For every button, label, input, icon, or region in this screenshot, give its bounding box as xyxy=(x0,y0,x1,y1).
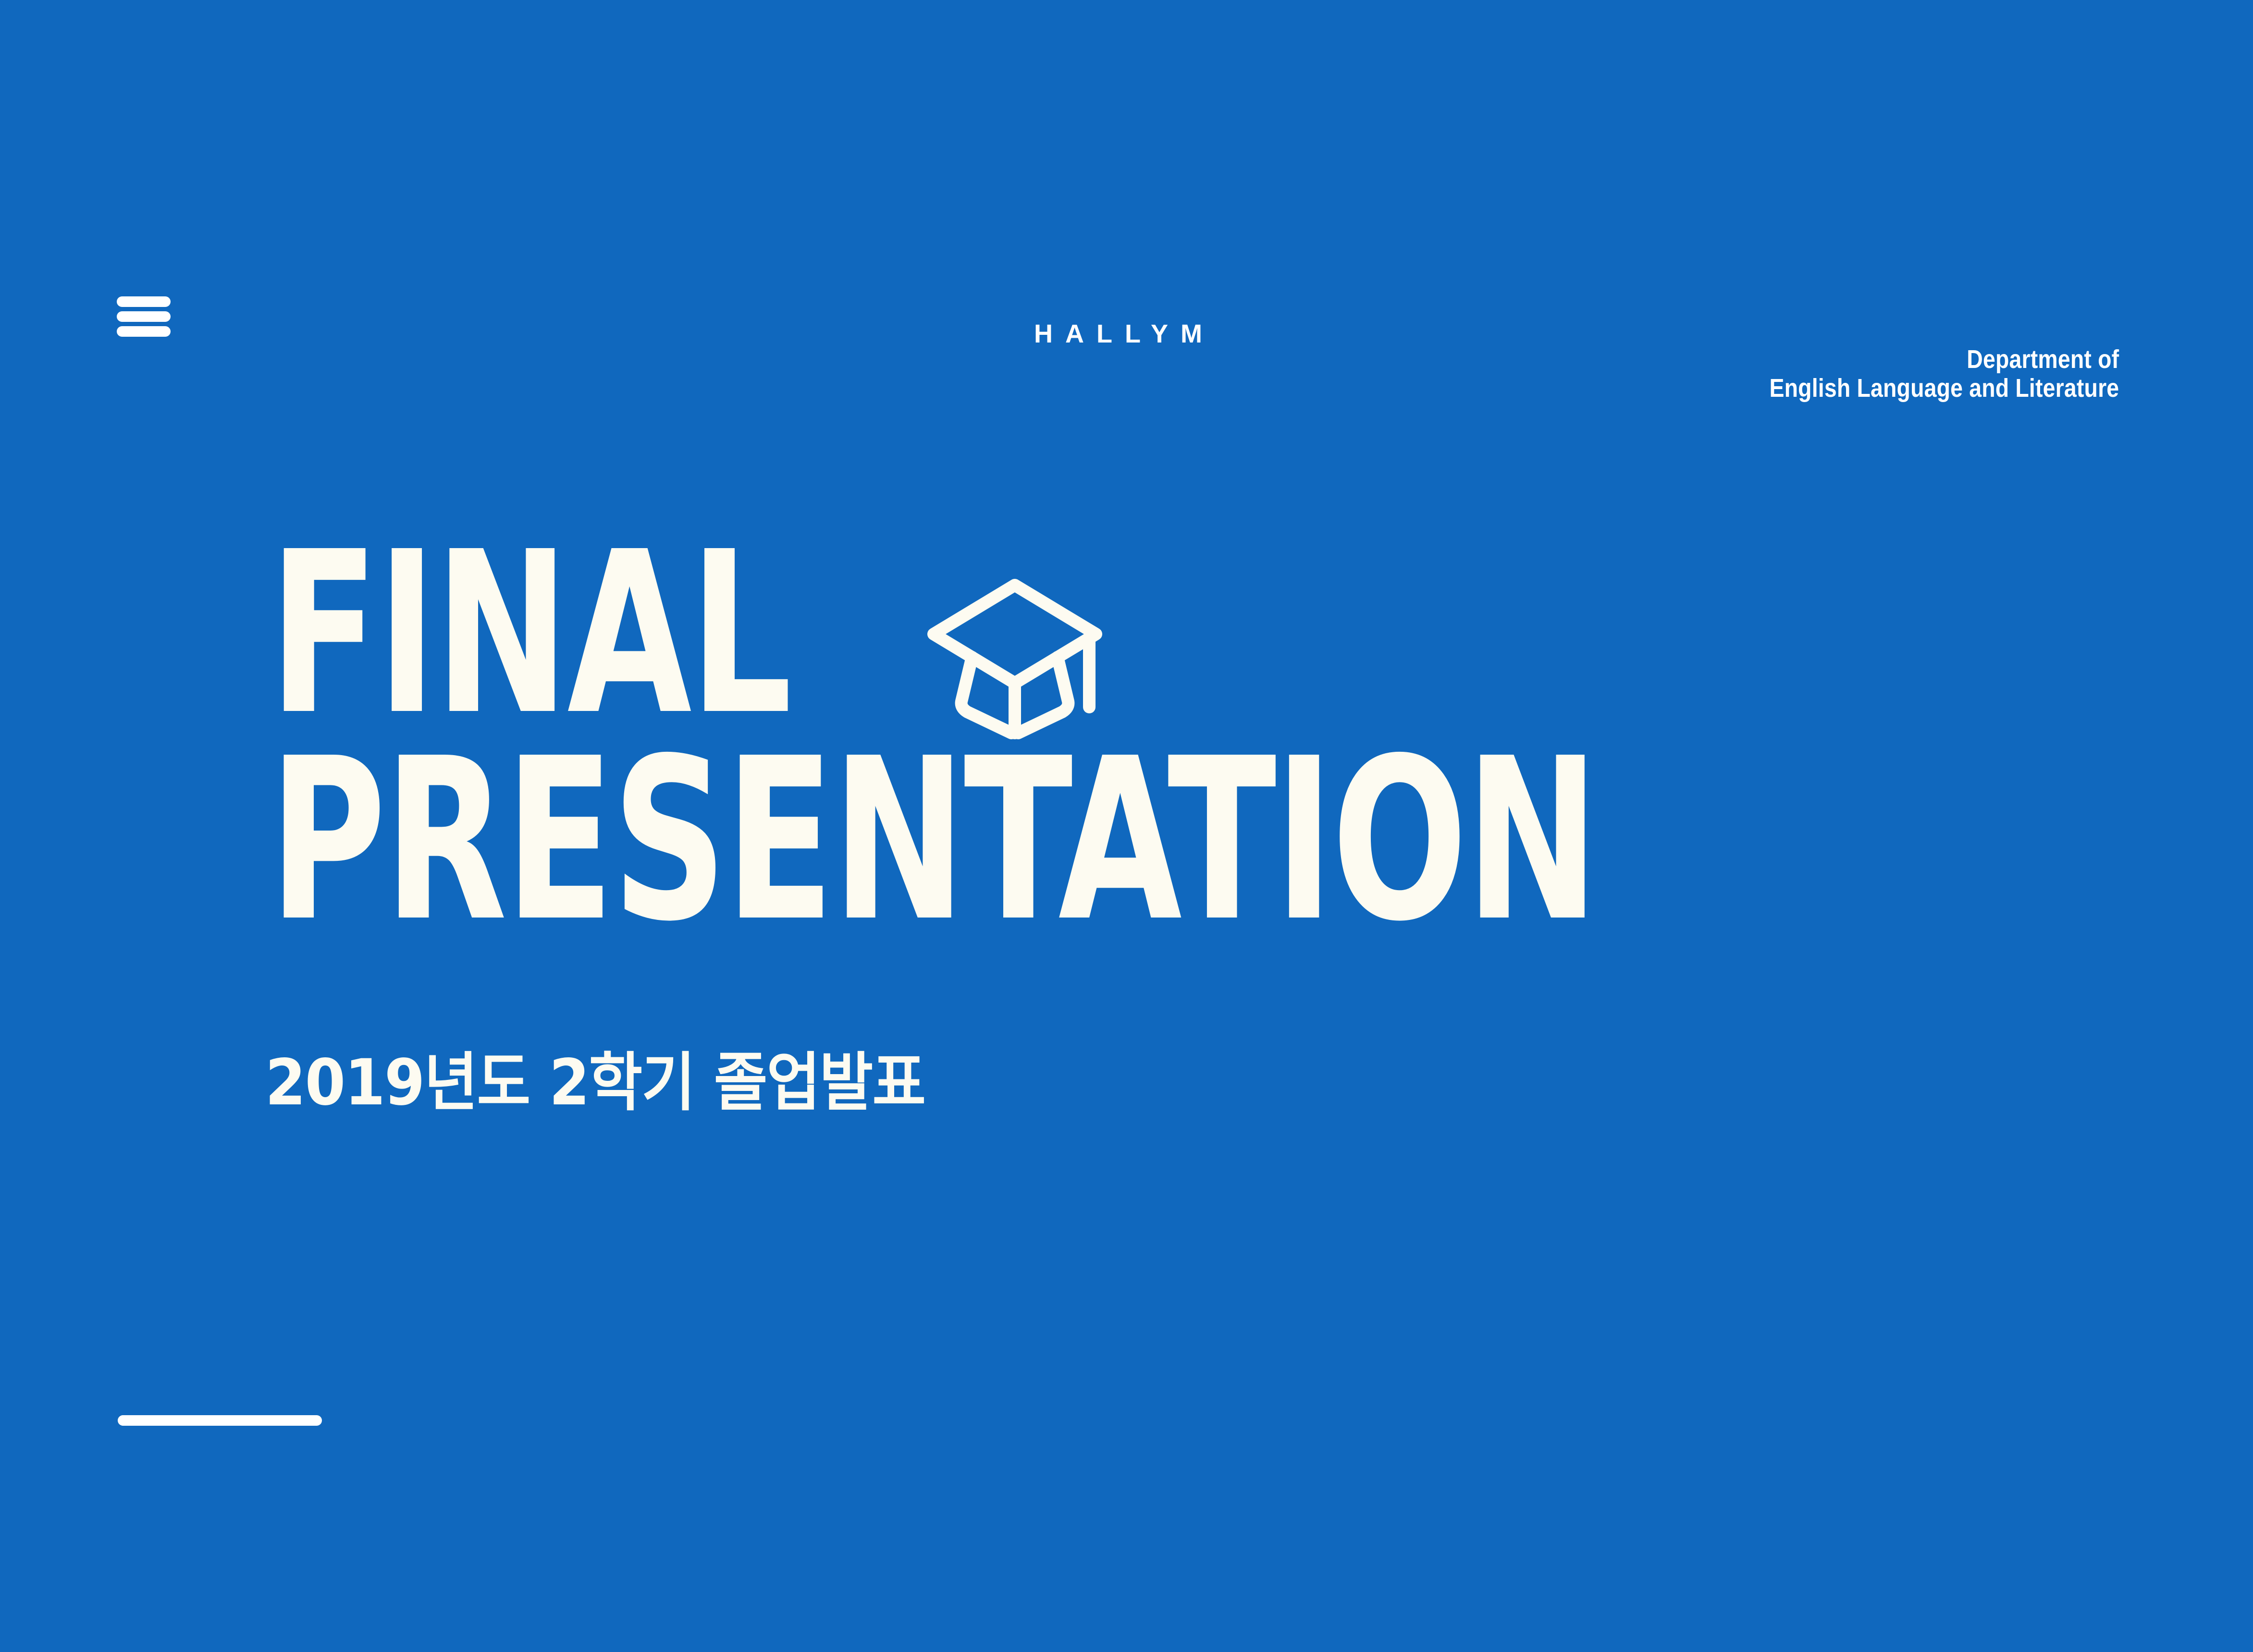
hamburger-bar-top xyxy=(117,296,171,307)
brand-wordmark: HALLYM xyxy=(1034,321,1215,347)
footer-rule xyxy=(118,1415,322,1426)
page-title-line-1: FINAL xyxy=(269,538,1549,730)
hamburger-menu-icon[interactable] xyxy=(117,296,171,337)
presentation-slide: HALLYM Department of English Language an… xyxy=(0,0,2253,1652)
hamburger-bar-bottom xyxy=(117,326,171,337)
department-line-1: Department of xyxy=(1769,345,2119,374)
department-block: Department of English Language and Liter… xyxy=(1769,345,2119,403)
department-line-2: English Language and Literature xyxy=(1769,374,2119,403)
graduation-cap-icon xyxy=(920,575,1110,740)
page-title-line-2: PRESENTATION xyxy=(269,745,1540,946)
hamburger-bar-middle xyxy=(117,311,171,322)
subtitle: 2019년도 2학기 졸업발표 xyxy=(265,1051,925,1114)
hero-title-block: FINAL PRESENTATION xyxy=(269,538,2047,946)
